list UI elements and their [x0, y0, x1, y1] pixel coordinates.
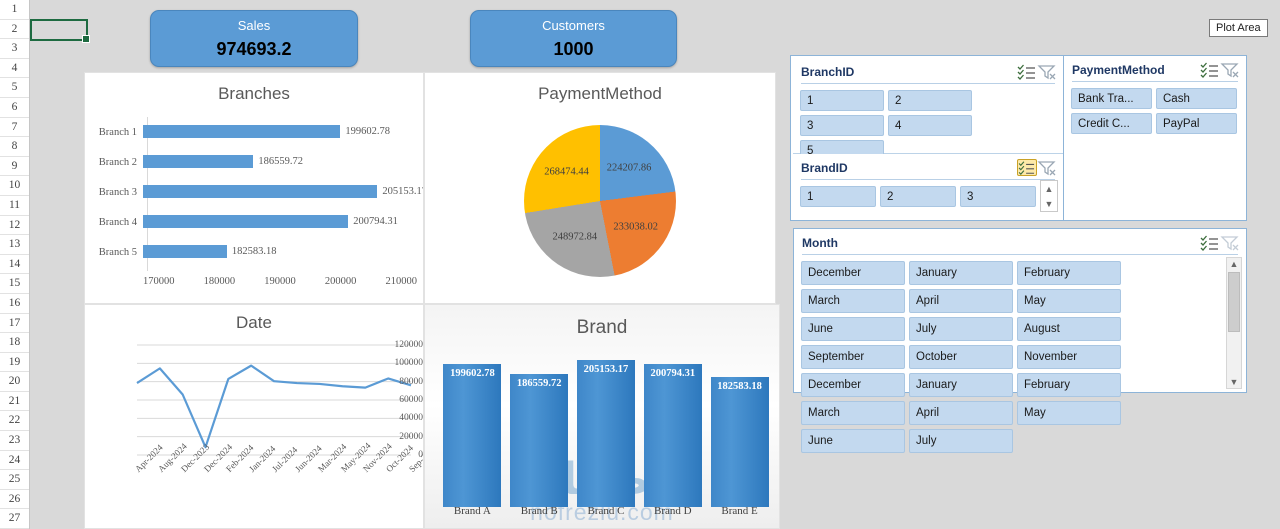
slicer-paymentmethod[interactable]: PaymentMethod Bank Tra...CashCredit C...…: [1063, 56, 1246, 220]
clear-filter-icon[interactable]: [1220, 61, 1240, 78]
brand-category-label: Brand C: [574, 505, 638, 517]
row-header-5[interactable]: 5: [0, 78, 29, 98]
row-header-10[interactable]: 10: [0, 176, 29, 196]
row-header-22[interactable]: 22: [0, 411, 29, 431]
slicer-item-month[interactable]: February: [1017, 373, 1121, 397]
row-header-18[interactable]: 18: [0, 333, 29, 353]
pie-slice-value: 224207.86: [607, 162, 652, 173]
row-header-14[interactable]: 14: [0, 255, 29, 275]
branches-bar-row: Branch 1199602.78: [85, 117, 423, 147]
row-header-19[interactable]: 19: [0, 353, 29, 373]
slicer-branchid-title: BranchID: [801, 65, 1017, 79]
chevron-down-icon[interactable]: ▼: [1230, 376, 1239, 388]
slicer-brandid-header: BrandID: [793, 154, 1063, 180]
slicer-item-month[interactable]: September: [801, 345, 905, 369]
slicer-item-paymentmethod[interactable]: PayPal: [1156, 113, 1237, 134]
row-header-25[interactable]: 25: [0, 470, 29, 490]
slicer-item-month[interactable]: October: [909, 345, 1013, 369]
branches-x-tick: 200000: [325, 276, 357, 287]
chart-branches[interactable]: Branches Branch 1199602.78Branch 2186559…: [84, 72, 424, 304]
row-header-12[interactable]: 12: [0, 216, 29, 236]
slicer-item-paymentmethod[interactable]: Credit C...: [1071, 113, 1152, 134]
pie-container: 224207.86233038.02248972.84268474.44: [524, 125, 676, 277]
branches-bar-track: 200794.31: [143, 207, 423, 237]
date-plot-area[interactable]: 120000100000800006000040000200000: [85, 339, 423, 459]
row-header-24[interactable]: 24: [0, 451, 29, 471]
kpi-customers-title: Customers: [542, 18, 605, 33]
slicer-item-month[interactable]: March: [801, 289, 905, 313]
branches-x-tick: 210000: [386, 276, 418, 287]
multi-select-icon[interactable]: [1200, 234, 1220, 251]
date-y-tick: 20000: [377, 432, 423, 442]
slicer-panel-top: BranchID 12345 BrandID 123 ▲ ▼: [790, 55, 1247, 221]
branches-bar-row: Branch 5182583.18: [85, 237, 423, 267]
branches-bar-rows: Branch 1199602.78Branch 2186559.72Branch…: [85, 117, 423, 267]
slicer-paymentmethod-divider: [1072, 81, 1238, 82]
kpi-card-customers[interactable]: Customers 1000: [470, 10, 677, 67]
row-header-13[interactable]: 13: [0, 235, 29, 255]
slicer-item-branchid[interactable]: 1: [800, 90, 884, 111]
date-y-tick: 120000: [377, 340, 423, 350]
row-header-9[interactable]: 9: [0, 157, 29, 177]
kpi-sales-title: Sales: [238, 18, 271, 33]
row-header-column: 1234567891011121314151617181920212223242…: [0, 0, 30, 529]
row-header-26[interactable]: 26: [0, 490, 29, 510]
brand-category-label: Brand A: [440, 505, 504, 517]
slicer-branchid[interactable]: BranchID 12345: [793, 58, 1063, 154]
slicer-brandid-title: BrandID: [801, 161, 1017, 175]
slicer-item-month[interactable]: January: [909, 261, 1013, 285]
slicer-item-brandid[interactable]: 3: [960, 186, 1036, 207]
clear-filter-icon[interactable]: [1220, 234, 1240, 251]
row-header-2[interactable]: 2: [0, 20, 29, 40]
row-header-6[interactable]: 6: [0, 98, 29, 118]
date-x-axis: Apr-2024Aug-2024Dec-2023Dec-2024Feb-2024…: [85, 463, 423, 525]
slicer-month-header: Month: [794, 229, 1246, 255]
row-header-1[interactable]: 1: [0, 0, 29, 20]
row-header-8[interactable]: 8: [0, 137, 29, 157]
row-header-21[interactable]: 21: [0, 392, 29, 412]
slicer-item-month[interactable]: May: [1017, 401, 1121, 425]
slicer-item-month[interactable]: December: [801, 373, 905, 397]
kpi-sales-value: 974693.2: [216, 39, 291, 60]
branches-category-label: Branch 4: [85, 217, 143, 228]
slicer-branchid-divider: [801, 83, 1055, 84]
chevron-up-icon[interactable]: ▲: [1230, 258, 1239, 270]
brand-bar[interactable]: 186559.72: [510, 374, 568, 507]
branches-x-tick: 190000: [264, 276, 296, 287]
slicer-item-month[interactable]: March: [801, 401, 905, 425]
brand-column-item: 199602.78: [440, 364, 504, 507]
row-header-16[interactable]: 16: [0, 294, 29, 314]
date-line-svg: [85, 339, 424, 459]
slicer-month-scrollbar[interactable]: ▲ ▼: [1226, 257, 1242, 389]
branches-bar[interactable]: [143, 155, 253, 168]
slicer-item-paymentmethod[interactable]: Bank Tra...: [1071, 88, 1152, 109]
multi-select-icon[interactable]: [1200, 61, 1220, 78]
slicer-item-month[interactable]: December: [801, 261, 905, 285]
slicer-month[interactable]: Month DecemberJanuaryFebruaryMarchAprilM…: [793, 228, 1247, 393]
plot-area-tooltip: Plot Area: [1209, 19, 1268, 37]
pie-slice-value: 233038.02: [613, 221, 658, 232]
slicer-paymentmethod-items: Bank Tra...CashCredit C...PayPal: [1064, 82, 1246, 140]
row-header-17[interactable]: 17: [0, 314, 29, 334]
row-header-4[interactable]: 4: [0, 59, 29, 79]
brand-column-item: 182583.18: [708, 377, 772, 507]
branches-x-axis: 170000180000190000200000210000: [143, 276, 417, 287]
slicer-brandid-divider: [801, 179, 1055, 180]
slicer-brandid[interactable]: BrandID 123 ▲ ▼: [793, 154, 1063, 220]
branches-bar-value: 200794.31: [348, 215, 398, 228]
slicer-brandid-spinner[interactable]: ▲ ▼: [1040, 180, 1058, 212]
branches-bar-value: 205153.17: [377, 185, 424, 198]
pie-slice-value: 248972.84: [553, 232, 598, 243]
kpi-customers-value: 1000: [553, 39, 593, 60]
scrollbar-thumb[interactable]: [1228, 272, 1240, 332]
branches-x-tick: 180000: [204, 276, 236, 287]
slicer-item-month[interactable]: June: [801, 317, 905, 341]
branches-category-label: Branch 3: [85, 187, 143, 198]
slicer-item-month[interactable]: January: [909, 373, 1013, 397]
slicer-month-title: Month: [802, 236, 1200, 250]
brand-columns: 199602.78186559.72205153.17200794.311825…: [439, 357, 773, 507]
slicer-item-month[interactable]: April: [909, 289, 1013, 313]
row-header-7[interactable]: 7: [0, 118, 29, 138]
branches-bar-track: 199602.78: [143, 117, 423, 147]
slicer-paymentmethod-header: PaymentMethod: [1064, 56, 1246, 82]
branches-bar-value: 199602.78: [340, 125, 390, 138]
branches-bar[interactable]: [143, 185, 377, 198]
branches-bar-value: 182583.18: [227, 245, 277, 258]
brand-bar-value: 199602.78: [450, 368, 495, 379]
chart-brand-title: Brand: [425, 317, 779, 339]
brand-category-axis: Brand ABrand BBrand CBrand DBrand E: [439, 505, 773, 517]
slicer-item-month[interactable]: August: [1017, 317, 1121, 341]
brand-bar[interactable]: 182583.18: [711, 377, 769, 507]
brand-category-label: Brand B: [507, 505, 571, 517]
branches-bar-track: 186559.72: [143, 147, 423, 177]
chart-brand[interactable]: قطمان nofrezlu.com Brand 199602.78186559…: [424, 304, 780, 529]
branches-bar-track: 205153.17: [143, 177, 423, 207]
chart-branches-title: Branches: [85, 84, 423, 104]
branches-bar[interactable]: [143, 125, 340, 138]
row-header-23[interactable]: 23: [0, 431, 29, 451]
slicer-item-month[interactable]: April: [909, 401, 1013, 425]
brand-column-item: 200794.31: [641, 364, 705, 507]
slicer-brandid-items: 123: [793, 180, 1063, 213]
date-y-tick: 40000: [377, 413, 423, 423]
clear-filter-icon[interactable]: [1037, 63, 1057, 80]
row-header-27[interactable]: 27: [0, 509, 29, 529]
branches-bar[interactable]: [143, 215, 348, 228]
date-y-tick: 80000: [377, 377, 423, 387]
brand-bar[interactable]: 205153.17: [577, 360, 635, 507]
branches-category-label: Branch 5: [85, 247, 143, 258]
chart-date[interactable]: Date 120000100000800006000040000200000 A…: [84, 304, 424, 529]
kpi-card-sales[interactable]: Sales 974693.2: [150, 10, 358, 67]
slicer-item-brandid[interactable]: 2: [880, 186, 956, 207]
branches-bar-track: 182583.18: [143, 237, 423, 267]
slicer-item-month[interactable]: May: [1017, 289, 1121, 313]
slicer-paymentmethod-title: PaymentMethod: [1072, 63, 1200, 77]
slicer-month-items: DecemberJanuaryFebruaryMarchAprilMayJune…: [794, 255, 1214, 459]
brand-bar[interactable]: 199602.78: [443, 364, 501, 507]
slicer-item-month[interactable]: July: [909, 429, 1013, 453]
brand-bar[interactable]: 200794.31: [644, 364, 702, 507]
slicer-item-month[interactable]: July: [909, 317, 1013, 341]
pie-slice-value: 268474.44: [544, 167, 589, 178]
clear-filter-icon[interactable]: [1037, 159, 1057, 176]
slicer-item-brandid[interactable]: 1: [800, 186, 876, 207]
slicer-item-month[interactable]: June: [801, 429, 905, 453]
chart-paymentmethod[interactable]: PaymentMethod 224207.86233038.02248972.8…: [424, 72, 776, 304]
chevron-down-icon[interactable]: ▼: [1045, 198, 1054, 210]
branches-bar-row: Branch 3205153.17: [85, 177, 423, 207]
chart-paymentmethod-title: PaymentMethod: [425, 84, 775, 104]
brand-bar-value: 182583.18: [717, 381, 762, 392]
row-header-11[interactable]: 11: [0, 196, 29, 216]
pie-slices[interactable]: [524, 125, 676, 277]
brand-column-item: 205153.17: [574, 360, 638, 507]
date-series-line[interactable]: [137, 366, 411, 448]
branches-category-label: Branch 1: [85, 127, 143, 138]
slicer-item-branchid[interactable]: 3: [800, 115, 884, 136]
row-header-3[interactable]: 3: [0, 39, 29, 59]
slicer-item-month[interactable]: February: [1017, 261, 1121, 285]
slicer-branchid-header: BranchID: [793, 58, 1063, 84]
active-cell-selection[interactable]: [30, 19, 88, 41]
slicer-item-branchid[interactable]: 2: [888, 90, 972, 111]
branches-x-tick: 170000: [143, 276, 175, 287]
slicer-item-branchid[interactable]: 4: [888, 115, 972, 136]
slicer-item-paymentmethod[interactable]: Cash: [1156, 88, 1237, 109]
slicer-item-month[interactable]: November: [1017, 345, 1121, 369]
brand-category-label: Brand D: [641, 505, 705, 517]
date-y-tick: 100000: [377, 358, 423, 368]
chart-date-title: Date: [85, 313, 423, 333]
multi-select-icon[interactable]: [1017, 63, 1037, 80]
brand-column-item: 186559.72: [507, 374, 571, 507]
row-header-20[interactable]: 20: [0, 372, 29, 392]
date-y-tick: 60000: [377, 395, 423, 405]
brand-bar-value: 186559.72: [517, 378, 562, 389]
brand-category-label: Brand E: [708, 505, 772, 517]
multi-select-icon[interactable]: [1017, 159, 1037, 176]
brand-bar-value: 200794.31: [650, 368, 695, 379]
slicer-month-divider: [802, 254, 1238, 255]
branches-bar-value: 186559.72: [253, 155, 303, 168]
branches-bar[interactable]: [143, 245, 227, 258]
branches-category-label: Branch 2: [85, 157, 143, 168]
branches-bar-row: Branch 2186559.72: [85, 147, 423, 177]
row-header-15[interactable]: 15: [0, 274, 29, 294]
brand-bar-value: 205153.17: [584, 364, 629, 375]
branches-bar-row: Branch 4200794.31: [85, 207, 423, 237]
chevron-up-icon[interactable]: ▲: [1045, 183, 1054, 195]
